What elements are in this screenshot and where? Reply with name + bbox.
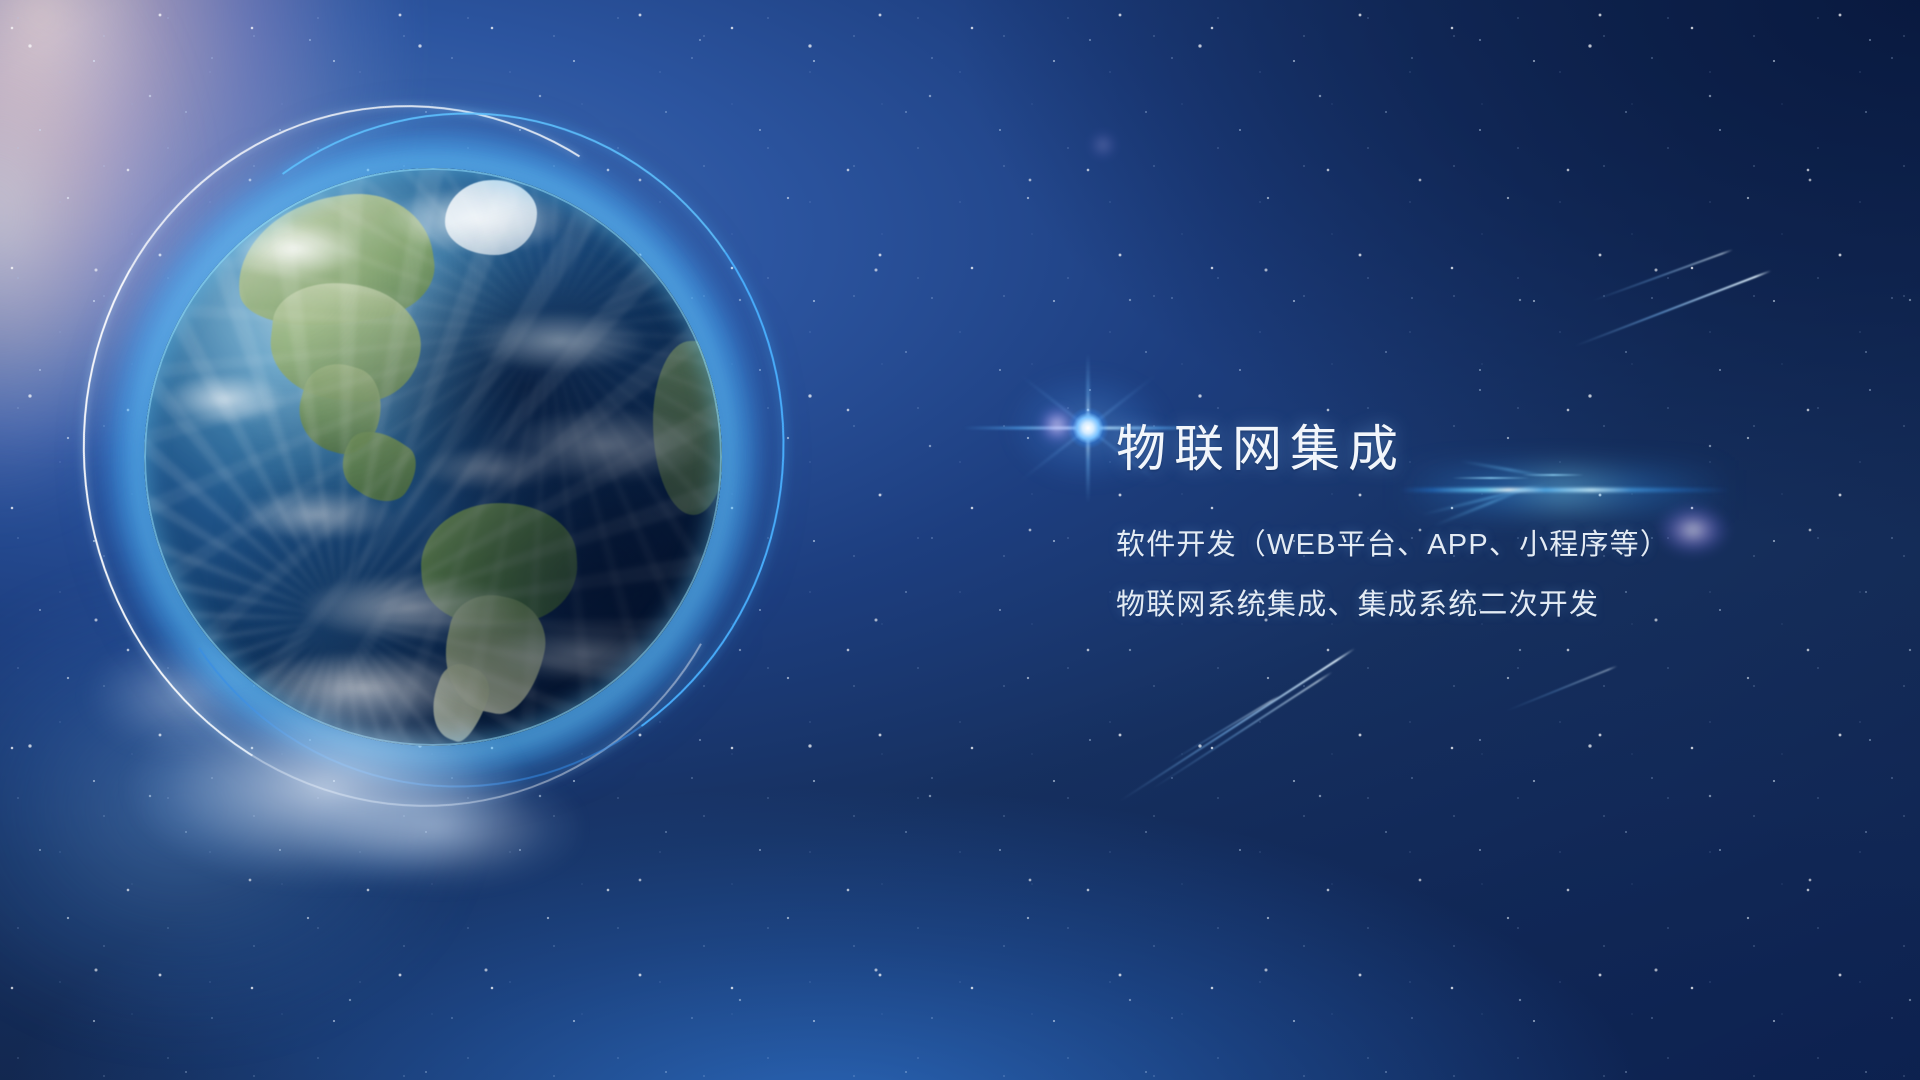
subtitle-line-1: 软件开发（WEB平台、APP、小程序等） — [1116, 531, 1670, 560]
hero-banner: 物联网集成 软件开发（WEB平台、APP、小程序等） 物联网系统集成、集成系统二… — [0, 0, 1920, 1080]
cloud-mist — [110, 690, 580, 920]
globe-limb-glow — [134, 158, 732, 756]
page-title: 物联网集成 — [1116, 424, 1670, 474]
subtitle-line-2: 物联网系统集成、集成系统二次开发 — [1116, 591, 1670, 620]
hero-text-block: 物联网集成 软件开发（WEB平台、APP、小程序等） 物联网系统集成、集成系统二… — [1116, 424, 1670, 620]
earth-globe — [144, 168, 722, 746]
